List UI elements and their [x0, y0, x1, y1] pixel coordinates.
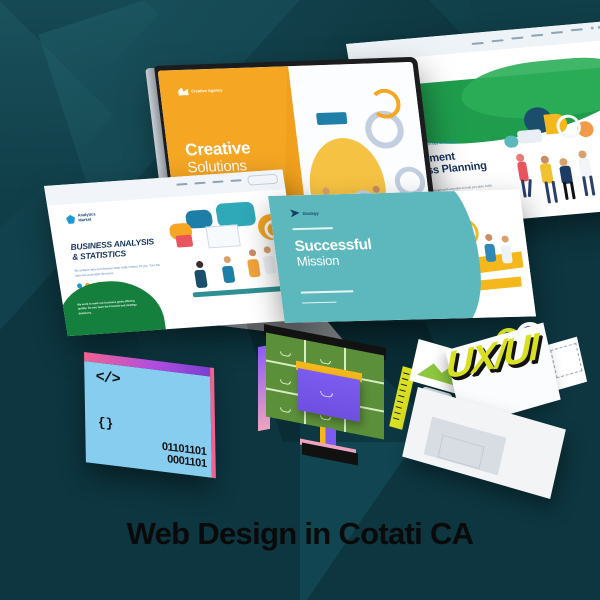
person-body [194, 270, 208, 289]
person-body [247, 259, 261, 278]
logo-label: Strategy [302, 210, 319, 215]
nav-dash [491, 39, 503, 42]
wireframe-placeholder [550, 343, 582, 379]
person-body [501, 246, 513, 264]
person-head [195, 261, 203, 268]
chart-bars [316, 112, 348, 125]
mission-card-title: Successful Mission [294, 237, 375, 270]
hero-banner: Business Creating The Best Strategy Solu… [0, 0, 600, 600]
person-head [223, 256, 231, 263]
mission-card-logo: Strategy [290, 209, 319, 218]
background-diamond-one [0, 0, 159, 149]
logo-label: Analytics Market [77, 213, 96, 224]
nav-dash [212, 180, 223, 183]
brace-tag-icon: {} [98, 414, 114, 431]
analysis-card-body: We analyze data and discover what really… [74, 263, 166, 278]
nav-dash [551, 31, 563, 34]
person-body [262, 256, 276, 275]
filing-cabinet [258, 336, 400, 456]
browser-bar [346, 21, 600, 63]
creative-card-title: Creative Solutions [184, 140, 253, 177]
uxui-illustration: UX/UI [392, 322, 600, 502]
logo-label: Creative Agency [191, 87, 223, 93]
code-card: </> {} 01101101 0001101 [84, 352, 212, 478]
analysis-card-logo: Analytics Market [65, 213, 96, 225]
person-head [485, 233, 493, 240]
nav-dash [472, 42, 484, 45]
drawer-handle[interactable] [280, 407, 291, 413]
analysis-card-title: BUSINESS ANALYSIS & STATISTICS [70, 236, 156, 262]
nav-dash [230, 179, 241, 182]
analytics-logo-icon [65, 215, 75, 225]
arrow-logo-icon [290, 209, 300, 217]
person-head [263, 246, 271, 253]
person-head [501, 236, 509, 243]
window-dot-icon [590, 26, 593, 29]
nav-dash [194, 182, 205, 185]
code-tag-icon: </> [96, 369, 120, 389]
nav-dash [571, 28, 583, 31]
person-head [248, 250, 256, 257]
drawer-handle[interactable] [280, 379, 291, 385]
nav-dash [531, 34, 543, 37]
drawer-handle[interactable] [320, 359, 331, 365]
nav-dash [176, 183, 187, 186]
successful-mission-card: Strategy Successful Mission [268, 189, 536, 322]
chart-panel [205, 224, 240, 248]
drawer-handle[interactable] [280, 351, 291, 357]
person-body [222, 266, 236, 284]
search-input[interactable] [247, 174, 279, 186]
page-title: Web Design in Cotati CA [0, 516, 600, 552]
code-card-edge [210, 368, 216, 479]
nav-dash [511, 37, 523, 40]
creative-card-logo: Creative Agency [178, 86, 223, 95]
person-body [484, 244, 496, 262]
mountain-logo-icon [178, 87, 189, 95]
business-analysis-card: Analytics Market BUSINESS ANALYSIS & STA… [44, 169, 306, 336]
table-surface [193, 286, 284, 297]
play-button-icon [176, 235, 194, 248]
